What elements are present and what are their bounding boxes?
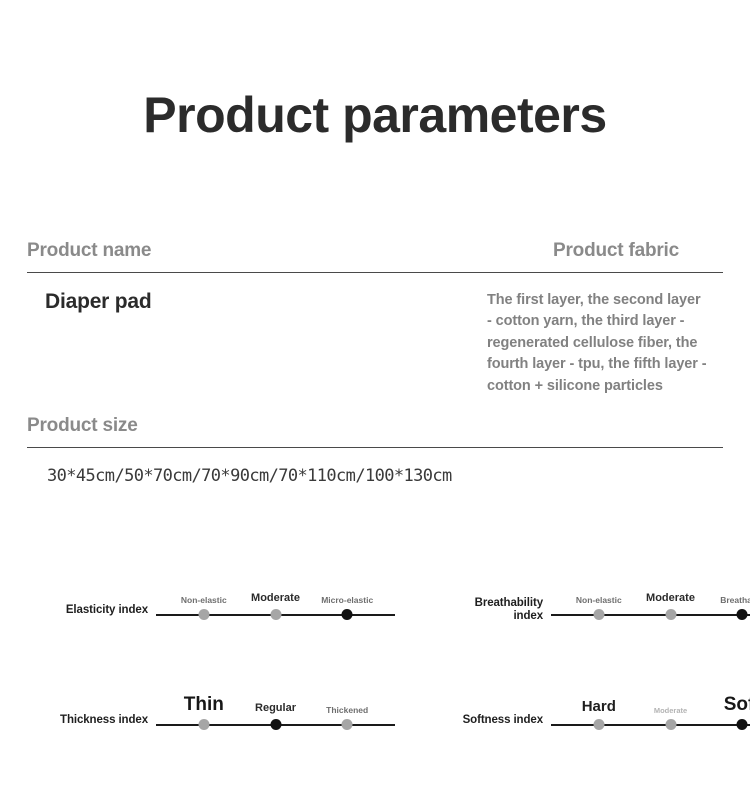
meter-tick-label: Micro-elastic — [321, 596, 373, 605]
meter-tick-labels: HardModerateSoft — [551, 688, 750, 714]
product-fabric-header: Product fabric — [553, 240, 679, 263]
meter-dot[interactable] — [198, 609, 209, 620]
meter-tick-labels: Non-elasticModerateMicro-elastic — [156, 578, 395, 604]
meter-dot[interactable] — [270, 609, 281, 620]
spec-row-name-fabric: Product name Product fabric Diaper pad T… — [27, 240, 723, 397]
meter-dot-active[interactable] — [270, 719, 281, 730]
product-size-value: 30*45cm/50*70cm/70*90cm/70*110cm/100*130… — [47, 466, 723, 486]
product-name-value: Diaper pad — [45, 290, 152, 397]
meter-dot-active[interactable] — [737, 609, 748, 620]
meter-dot[interactable] — [593, 609, 604, 620]
spec-header-row: Product name Product fabric — [27, 240, 723, 263]
meter-label: Elasticity index — [40, 604, 148, 617]
meter-tick-label: Moderate — [654, 707, 687, 715]
meter-tick-label: Thickened — [326, 706, 368, 715]
meter-grid: Elasticity indexNon-elasticModerateMicro… — [0, 578, 750, 744]
spec-row-size: Product size 30*45cm/50*70cm/70*90cm/70*… — [27, 415, 723, 486]
spec-body-row: Diaper pad The first layer, the second l… — [27, 273, 723, 397]
meter-track[interactable]: ThinRegularThickened — [156, 688, 395, 744]
meter-track[interactable]: Non-elasticModerateMicro-elastic — [156, 578, 395, 634]
divider-size — [27, 447, 723, 448]
meter-tick-label: Moderate — [646, 593, 695, 604]
meter-tick-labels: Non-elasticModerateBreathable — [551, 578, 750, 604]
meter-dot-active[interactable] — [342, 609, 353, 620]
meter-label: Thickness index — [40, 714, 148, 727]
meter-tick-label: Soft — [724, 695, 750, 714]
meter-dot-active[interactable] — [737, 719, 748, 730]
page-title: Product parameters — [0, 88, 750, 143]
spec-table: Product name Product fabric Diaper pad T… — [27, 240, 723, 397]
meter-dot[interactable] — [665, 609, 676, 620]
meter-line — [551, 614, 750, 616]
index-meters: Elasticity indexNon-elasticModerateMicro… — [0, 578, 750, 744]
meter-softness-index: Softness indexHardModerateSoft — [435, 688, 750, 744]
meter-tick-label: Non-elastic — [576, 596, 622, 605]
meter-track[interactable]: HardModerateSoft — [551, 688, 750, 744]
meter-tick-label: Thin — [184, 695, 224, 714]
meter-breathability-index: BreathabilityindexNon-elasticModerateBre… — [435, 578, 750, 634]
product-fabric-value: The first layer, the second layer - cott… — [487, 290, 709, 397]
meter-line — [551, 724, 750, 726]
meter-tick-label: Regular — [255, 703, 296, 714]
meter-tick-label: Hard — [582, 699, 616, 714]
meter-label: Softness index — [435, 714, 543, 727]
meter-dot[interactable] — [342, 719, 353, 730]
meter-dot[interactable] — [198, 719, 209, 730]
meter-dot[interactable] — [593, 719, 604, 730]
meter-elasticity-index: Elasticity indexNon-elasticModerateMicro… — [40, 578, 395, 634]
meter-tick-label: Breathable — [720, 596, 750, 605]
meter-label: Breathabilityindex — [435, 597, 543, 623]
product-name-header: Product name — [27, 240, 151, 263]
meter-tick-labels: ThinRegularThickened — [156, 688, 395, 714]
meter-thickness-index: Thickness indexThinRegularThickened — [40, 688, 395, 744]
product-size-header: Product size — [27, 415, 723, 438]
meter-tick-label: Moderate — [251, 593, 300, 604]
meter-track[interactable]: Non-elasticModerateBreathable — [551, 578, 750, 634]
meter-tick-label: Non-elastic — [181, 596, 227, 605]
meter-dot[interactable] — [665, 719, 676, 730]
